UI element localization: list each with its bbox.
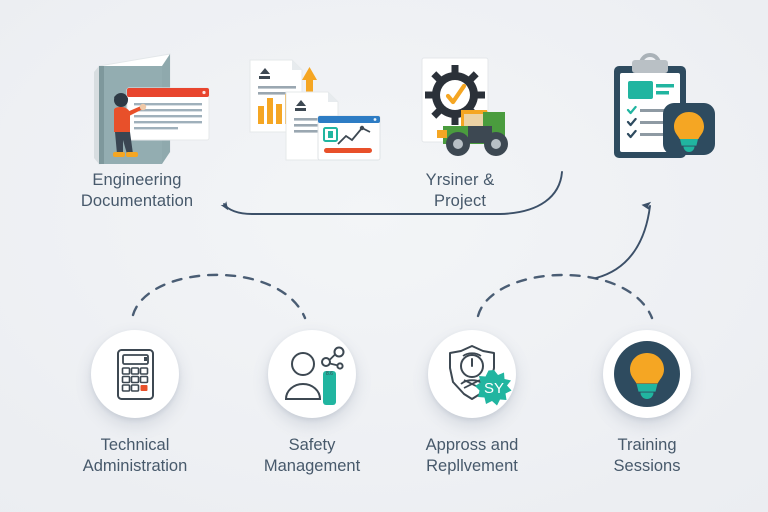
bottom-node-label: Appross and Repllvement bbox=[382, 435, 562, 477]
bottom-node-safety-management[interactable]: 8.6 Safety Management bbox=[222, 330, 402, 477]
dashed-arc-right-path bbox=[478, 275, 652, 318]
top-node-yrsiner-project[interactable]: Yrsiner & Project bbox=[365, 48, 555, 212]
icon-circle[interactable] bbox=[603, 330, 691, 418]
person-flask-network-icon: 8.6 bbox=[268, 330, 356, 418]
bottom-node-label: Technical Administration bbox=[45, 435, 225, 477]
lightbulb-circle-icon bbox=[603, 330, 691, 418]
icon-circle[interactable] bbox=[91, 330, 179, 418]
svg-text:SY: SY bbox=[484, 380, 504, 397]
bottom-node-training-sessions[interactable]: Training Sessions bbox=[557, 330, 737, 477]
icon-circle[interactable]: SY bbox=[428, 330, 516, 418]
bottom-node-appross-repllvement[interactable]: SY Appross and Repllvement bbox=[382, 330, 562, 477]
tractor-gear-checkmark-icon bbox=[365, 48, 555, 168]
bottom-node-label: Safety Management bbox=[222, 435, 402, 477]
top-node-engineering-documentation[interactable]: Engineering Documentation bbox=[42, 48, 232, 212]
bottom-node-label: Training Sessions bbox=[557, 435, 737, 477]
infographic-canvas: Engineering Documentation bbox=[0, 0, 768, 512]
top-node-label: Engineering Documentation bbox=[42, 170, 232, 212]
seal-badge-sy-icon: SY bbox=[428, 330, 516, 418]
book-with-document-icon bbox=[42, 48, 232, 168]
bottom-node-technical-administration[interactable]: Technical Administration bbox=[45, 330, 225, 477]
dashed-arc-left-path bbox=[133, 275, 305, 318]
svg-text:8.6: 8.6 bbox=[326, 371, 333, 377]
clipboard-checklist-lightbulb-icon bbox=[558, 48, 748, 168]
icon-circle[interactable]: 8.6 bbox=[268, 330, 356, 418]
top-node-label: Yrsiner & Project bbox=[365, 170, 555, 212]
top-node-clipboard-idea[interactable] bbox=[558, 48, 748, 170]
rise-arrow-right-path bbox=[596, 206, 650, 278]
calculator-icon bbox=[91, 330, 179, 418]
